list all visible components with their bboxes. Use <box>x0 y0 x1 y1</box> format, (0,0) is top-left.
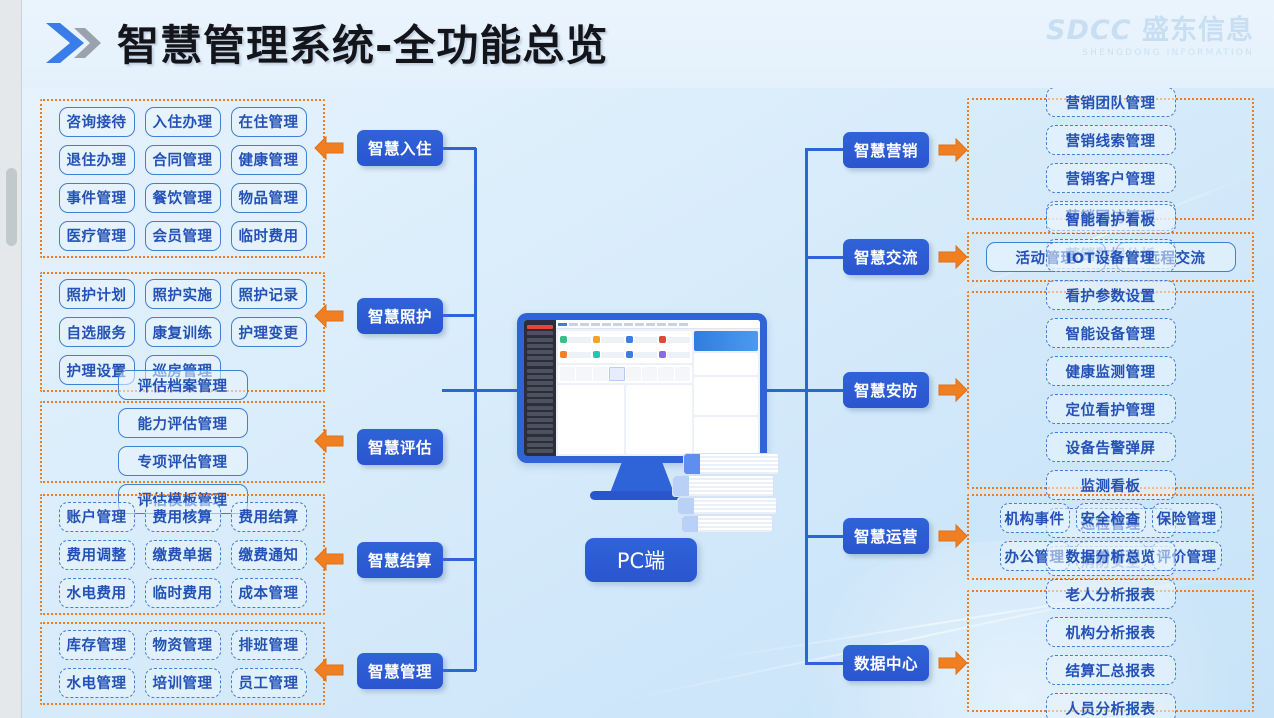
company-logo: SDCC 盛东信息 SHENGDONG INFORMATION <box>1024 16 1254 78</box>
left-branch-line <box>442 314 476 317</box>
category-智慧入住[interactable]: 智慧入住 <box>357 130 443 166</box>
feature-chip[interactable]: 物品管理 <box>231 183 307 213</box>
mindmap-page: 智慧管理系统-全功能总览 SDCC 盛东信息 SHENGDONG INFORMA… <box>0 0 1274 718</box>
desktop-monitor-icon: PC端 <box>505 305 795 535</box>
logo-cn-name: 盛东信息 <box>1142 15 1254 46</box>
vertical-scrollbar-thumb[interactable] <box>6 168 17 246</box>
screen-chart-card <box>558 385 624 454</box>
group-智慧结算: 账户管理 费用核算 费用结算 费用调整 缴费单据 缴费通知 水电费用 临时费用 … <box>40 494 325 615</box>
feature-chip[interactable]: 费用结算 <box>231 502 307 532</box>
group-智慧评估: 评估档案管理 能力评估管理 专项评估管理 评估模板管理 <box>40 401 325 483</box>
feature-chip[interactable]: 费用核算 <box>145 502 221 532</box>
feature-chip[interactable]: 咨询接待 <box>59 107 135 137</box>
arrow-right-icon <box>938 650 968 676</box>
feature-chip[interactable]: 会员管理 <box>145 221 221 251</box>
arrow-left-icon <box>314 657 344 683</box>
arrow-right-icon <box>938 244 968 270</box>
feature-chip[interactable]: 自选服务 <box>59 317 135 347</box>
feature-chip[interactable]: 结算汇总报表 <box>1046 655 1176 685</box>
group-数据中心: 数据分析总览 老人分析报表 机构分析报表 结算汇总报表 人员分析报表 机构收支报… <box>967 590 1254 712</box>
group-智慧安防: 智能看护看板 IOT设备管理 看护参数设置 智能设备管理 健康监测管理 定位看护… <box>967 291 1254 489</box>
feature-chip[interactable]: 缴费通知 <box>231 540 307 570</box>
feature-chip[interactable]: 智能设备管理 <box>1046 318 1176 348</box>
feature-chip[interactable]: 评估档案管理 <box>118 370 248 400</box>
category-智慧营销[interactable]: 智慧营销 <box>843 132 929 168</box>
page-title: 智慧管理系统-全功能总览 <box>117 12 608 73</box>
screen-topbar <box>556 320 760 329</box>
screen-stat-card <box>694 353 758 375</box>
category-label: 智慧照护 <box>368 305 432 327</box>
arrow-left-icon <box>314 546 344 572</box>
category-label: 数据中心 <box>854 652 918 674</box>
feature-chip[interactable]: 护理变更 <box>231 317 307 347</box>
stacked-books-icon <box>677 497 777 515</box>
arrow-right-icon <box>938 377 968 403</box>
category-智慧管理[interactable]: 智慧管理 <box>357 653 443 689</box>
screen-chart-card <box>626 385 692 454</box>
feature-chip[interactable]: 缴费单据 <box>145 540 221 570</box>
screen-gauge-card <box>694 377 758 415</box>
feature-chip[interactable]: 保险管理 <box>1152 503 1222 533</box>
right-branch-line <box>805 389 843 392</box>
category-label: 智慧结算 <box>368 549 432 571</box>
page-header: 智慧管理系统-全功能总览 SDCC 盛东信息 SHENGDONG INFORMA… <box>22 0 1274 88</box>
feature-chip[interactable]: 机构事件 <box>1000 503 1070 533</box>
arrow-left-icon <box>314 303 344 329</box>
screen-list-card <box>694 417 758 455</box>
monitor-frame <box>517 313 767 463</box>
feature-chip[interactable]: 能力评估管理 <box>118 408 248 438</box>
feature-chip[interactable]: 员工管理 <box>231 668 307 698</box>
page-left-edge <box>0 0 22 718</box>
feature-chip[interactable]: 餐饮管理 <box>145 183 221 213</box>
dashboard-screenshot <box>524 320 760 456</box>
category-label: 智慧管理 <box>368 660 432 682</box>
feature-chip[interactable]: 照护计划 <box>59 279 135 309</box>
feature-chip[interactable]: 费用调整 <box>59 540 135 570</box>
right-branch-line <box>805 662 843 665</box>
screen-left-column <box>558 331 692 454</box>
feature-chip[interactable]: 入住办理 <box>145 107 221 137</box>
stacked-books-icon <box>672 475 774 497</box>
vertical-scrollbar-track[interactable] <box>6 0 17 718</box>
left-branch-line <box>442 669 476 672</box>
feature-chip[interactable]: 成本管理 <box>231 578 307 608</box>
feature-chip[interactable]: 健康监测管理 <box>1046 356 1176 386</box>
feature-chip[interactable]: 营销团队管理 <box>1046 87 1176 117</box>
screen-right-column <box>694 331 758 454</box>
logo-acronym: SDCC <box>1046 15 1132 46</box>
feature-chip[interactable]: 物资管理 <box>145 630 221 660</box>
pc-device-label-text: PC端 <box>617 545 665 575</box>
feature-chip[interactable]: 营销线索管理 <box>1046 125 1176 155</box>
feature-chip[interactable]: 事件管理 <box>59 183 135 213</box>
feature-chip[interactable]: 水电管理 <box>59 668 135 698</box>
category-数据中心[interactable]: 数据中心 <box>843 645 929 681</box>
category-label: 智慧入住 <box>368 137 432 159</box>
group-智慧管理: 库存管理 物资管理 排班管理 水电管理 培训管理 员工管理 <box>40 622 325 705</box>
right-branch-line <box>805 148 843 151</box>
feature-chip[interactable]: 账户管理 <box>59 502 135 532</box>
feature-chip[interactable]: 排班管理 <box>231 630 307 660</box>
right-branch-line <box>805 535 843 538</box>
feature-chip[interactable]: 数据分析总览 <box>1046 541 1176 571</box>
category-label: 智慧运营 <box>854 525 918 547</box>
feature-chip[interactable]: 退住办理 <box>59 145 135 175</box>
feature-chip[interactable]: 临时费用 <box>145 578 221 608</box>
monitor-stand <box>610 463 674 493</box>
group-智慧入住: 咨询接待 入住办理 在住管理 退住办理 合同管理 健康管理 事件管理 餐饮管理 … <box>40 99 325 258</box>
screen-sidebar <box>524 320 556 456</box>
category-label: 智慧交流 <box>854 246 918 268</box>
feature-chip[interactable]: 库存管理 <box>59 630 135 660</box>
feature-chip[interactable]: 看护参数设置 <box>1046 280 1176 310</box>
left-branch-line <box>442 389 476 392</box>
group-智慧营销: 营销数据总览 营销团队管理 营销线索管理 营销客户管理 营销回访管理 营销数据分… <box>967 98 1254 220</box>
feature-chip[interactable]: 智能看护看板 <box>1046 204 1176 234</box>
feature-chip[interactable]: 照护实施 <box>145 279 221 309</box>
right-trunk-line <box>805 149 808 663</box>
left-branch-line <box>442 558 476 561</box>
category-label: 智慧营销 <box>854 139 918 161</box>
feature-chip[interactable]: 培训管理 <box>145 668 221 698</box>
feature-chip[interactable]: 人员分析报表 <box>1046 693 1176 718</box>
feature-chip[interactable]: 老人分析报表 <box>1046 579 1176 609</box>
category-智慧照护[interactable]: 智慧照护 <box>357 298 443 334</box>
pc-device-label[interactable]: PC端 <box>585 538 697 582</box>
screen-banner <box>694 331 758 351</box>
feature-chip[interactable]: 设备告警弹屏 <box>1046 432 1176 462</box>
screen-main <box>556 329 760 456</box>
arrow-left-icon <box>314 428 344 454</box>
left-trunk-line <box>474 148 477 671</box>
feature-chip[interactable]: 在住管理 <box>231 107 307 137</box>
category-智慧安防[interactable]: 智慧安防 <box>843 372 929 408</box>
feature-chip[interactable]: 营销客户管理 <box>1046 163 1176 193</box>
feature-chip[interactable]: 照护记录 <box>231 279 307 309</box>
feature-chip[interactable]: 合同管理 <box>145 145 221 175</box>
category-label: 智慧安防 <box>854 379 918 401</box>
category-智慧运营[interactable]: 智慧运营 <box>843 518 929 554</box>
feature-chip[interactable]: 专项评估管理 <box>118 446 248 476</box>
feature-chip[interactable]: 定位看护管理 <box>1046 394 1176 424</box>
feature-chip[interactable]: 临时费用 <box>231 221 307 251</box>
category-label: 智慧评估 <box>368 436 432 458</box>
screen-body <box>556 320 760 456</box>
feature-chip[interactable]: 健康管理 <box>231 145 307 175</box>
screen-tile-card <box>558 331 692 363</box>
arrow-right-icon <box>938 137 968 163</box>
screen-icon-card <box>558 365 692 383</box>
feature-chip[interactable]: 康复训练 <box>145 317 221 347</box>
category-智慧评估[interactable]: 智慧评估 <box>357 429 443 465</box>
double-chevron-right-icon <box>44 20 110 66</box>
feature-chip[interactable]: 医疗管理 <box>59 221 135 251</box>
stacked-books-icon <box>681 515 773 533</box>
logo-tagline: SHENGDONG INFORMATION <box>1024 48 1254 58</box>
stacked-books-icon <box>683 453 779 475</box>
right-branch-line <box>805 256 843 259</box>
left-branch-line <box>442 147 476 150</box>
category-智慧交流[interactable]: 智慧交流 <box>843 239 929 275</box>
feature-chip[interactable]: 机构分析报表 <box>1046 617 1176 647</box>
feature-chip[interactable]: IOT设备管理 <box>1046 242 1176 272</box>
arrow-left-icon <box>314 135 344 161</box>
category-智慧结算[interactable]: 智慧结算 <box>357 542 443 578</box>
feature-chip[interactable]: 水电费用 <box>59 578 135 608</box>
arrow-right-icon <box>938 523 968 549</box>
feature-chip[interactable]: 安全检查 <box>1076 503 1146 533</box>
